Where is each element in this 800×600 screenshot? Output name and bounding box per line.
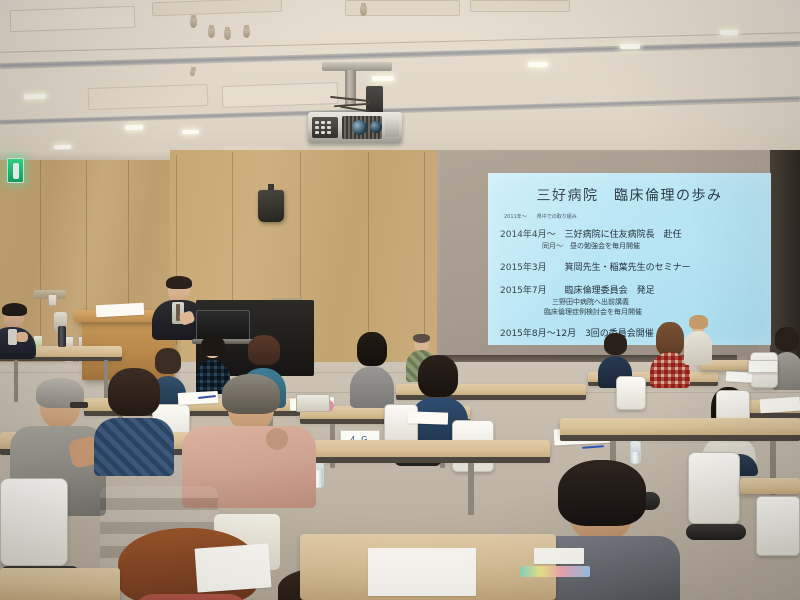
- clothing: [132, 594, 250, 600]
- sprinkler-head: [190, 70, 195, 76]
- sprinkler-head: [243, 28, 250, 38]
- presentation-slide: 三好病院 臨床倫理の歩み 2011年～ 県中での取り組み 2014年4月～ 三好…: [488, 173, 771, 345]
- chair-base: [686, 524, 746, 540]
- clothing: [94, 418, 174, 476]
- left-side-attendee: [0, 306, 40, 356]
- slide-body: 2011年～ 県中での取り組み 2014年4月～ 三好病院に住友病院長 赴任 同…: [500, 213, 768, 340]
- slide-line-0: 2011年～ 県中での取り組み: [504, 213, 768, 220]
- audience-light-shirt-back: [684, 318, 712, 366]
- lectern-papers: [96, 303, 145, 317]
- wall-switch-plate: [48, 294, 57, 306]
- audience-table-right-low: [740, 478, 800, 494]
- bottle-label: [631, 442, 640, 452]
- hair: [155, 348, 181, 374]
- attendee-hand: [16, 332, 28, 342]
- audience-table-front-centre: [300, 440, 550, 458]
- table-number-card: [748, 360, 778, 373]
- sprinkler-head: [224, 30, 231, 40]
- projector-mount-plate: [322, 62, 392, 71]
- exit-running-figure-icon: [13, 163, 19, 179]
- hair: [656, 322, 684, 356]
- chair[interactable]: [688, 452, 740, 524]
- hair: [418, 355, 458, 397]
- clothing: [684, 331, 712, 365]
- foreground-handout: [368, 548, 476, 596]
- hair: [558, 460, 646, 526]
- ceiling-light: [720, 30, 738, 35]
- slide-line-3: 2015年3月 箕岡先生・稲葉先生のセミナー: [500, 260, 768, 273]
- slide-line-4: 2015年7月 臨床倫理委員会 発足: [500, 283, 768, 296]
- handout: [760, 397, 800, 414]
- hair: [413, 334, 430, 343]
- projector-cables: [330, 92, 382, 112]
- ceiling-light: [24, 94, 46, 100]
- presentation-room-photo: 三好病院 臨床倫理の歩み 2011年～ 県中での取り組み 2014年4月～ 三好…: [0, 0, 800, 600]
- ceiling-light: [182, 130, 199, 135]
- wall-panel-seam: [424, 152, 425, 347]
- chair[interactable]: [0, 478, 68, 566]
- ceiling-light: [372, 76, 394, 81]
- projector-side-panel: [385, 118, 399, 137]
- ceiling-light: [528, 62, 548, 67]
- hair: [689, 315, 708, 329]
- audience-grey-hoodie-girl: [350, 336, 394, 406]
- sprinkler-head: [208, 28, 215, 38]
- ceiling-light: [54, 145, 71, 150]
- projector: [308, 112, 402, 143]
- ceiling-tile: [88, 84, 209, 110]
- attendee-hair: [2, 303, 27, 316]
- slide-line-6: 臨床倫理症例検討会を毎月開催: [544, 307, 768, 317]
- eyeglasses: [70, 402, 88, 408]
- chair[interactable]: [384, 404, 418, 444]
- projector-control-panel: [312, 117, 338, 138]
- hair: [357, 332, 387, 366]
- table-leg: [468, 463, 474, 515]
- foreground-table-left: [0, 568, 120, 600]
- slide-line-7: 2015年8月～12月 3回の委員会開催: [500, 326, 768, 339]
- hair: [201, 336, 225, 356]
- slide-title: 三好病院 臨床倫理の歩み: [488, 185, 771, 205]
- sprinkler-head: [190, 18, 197, 28]
- audience-navy-knit-woman: [94, 376, 174, 472]
- foreground-name-card: [195, 543, 272, 592]
- foreground-card: [534, 548, 584, 564]
- ceiling-panel: [222, 82, 339, 108]
- presenter-hair: [166, 276, 192, 289]
- table-edge: [300, 457, 550, 463]
- handout: [408, 411, 448, 424]
- hair: [604, 333, 627, 355]
- foreground-pencil-case: [520, 566, 590, 577]
- thermos: [58, 326, 66, 347]
- hair: [248, 335, 280, 365]
- neck: [266, 428, 288, 450]
- chair[interactable]: [616, 376, 646, 410]
- ceiling-light: [125, 125, 143, 131]
- ceiling-panel: [10, 6, 136, 32]
- audience-table-right-front: [560, 418, 800, 436]
- projector-lens-ring: [370, 121, 382, 133]
- slide-line-1: 2014年4月～ 三好病院に住友病院長 赴任: [500, 227, 768, 240]
- hair: [108, 368, 160, 416]
- handout: [726, 371, 752, 382]
- clothing: [350, 366, 394, 408]
- slide-line-2: 同月～ 昼の勉強会を毎月開催: [542, 241, 768, 251]
- wall-panel-seam: [40, 160, 41, 360]
- hair: [222, 374, 280, 414]
- exit-sign: [7, 158, 24, 183]
- hair: [775, 327, 799, 351]
- ceiling-tile: [470, 0, 570, 12]
- wall-panel-seam: [368, 152, 369, 342]
- chair[interactable]: [756, 496, 800, 556]
- slide-line-5: 三野田中病院へ出前講義: [552, 297, 768, 307]
- projector-lens: [352, 120, 367, 135]
- wall-speaker: [258, 190, 284, 222]
- table-edge: [560, 435, 800, 441]
- sprinkler-head: [360, 6, 367, 16]
- ceiling-light: [620, 44, 640, 49]
- presenter-laptop: [196, 310, 250, 340]
